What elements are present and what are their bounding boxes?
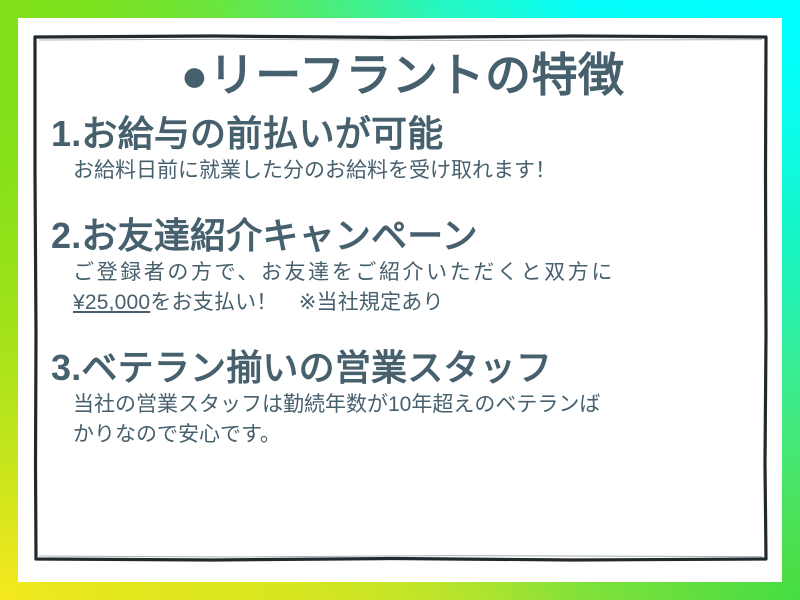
feature-item-1: 1.お給与の前払いが可能 お給料日前に就業した分のお給料を受け取れます！ [51, 114, 754, 186]
feature-2-heading: 2.お友達紹介キャンペーン [51, 216, 754, 256]
referral-amount: ¥25,000 [73, 291, 150, 314]
feature-1-heading: 1.お給与の前払いが可能 [51, 114, 754, 154]
feature-item-2: 2.お友達紹介キャンペーン ご登録者の方で、お友達をご紹介いただくと双方に ¥2… [51, 216, 754, 318]
feature-3-body: 当社の営業スタッフは勤続年数が10年超えのベテランば かりなので安心です。 [51, 390, 754, 450]
feature-1-body: お給料日前に就業した分のお給料を受け取れます！ [51, 156, 754, 186]
feature-3-heading: 3.ベテラン揃いの営業スタッフ [51, 348, 754, 388]
feature-3-body-line-1: 当社の営業スタッフは勤続年数が10年超えのベテランば [73, 390, 754, 420]
poster-content: ●リーフラントの特徴 1.お給与の前払いが可能 お給料日前に就業した分のお給料を… [33, 34, 768, 562]
poster-canvas: ●リーフラントの特徴 1.お給与の前払いが可能 お給料日前に就業した分のお給料を… [0, 0, 800, 600]
page-title: ●リーフラントの特徴 [51, 52, 754, 98]
feature-1-body-line-1: お給料日前に就業した分のお給料を受け取れます！ [73, 156, 754, 186]
feature-2-body: ご登録者の方で、お友達をご紹介いただくと双方に ¥25,000をお支払い！ ※当… [51, 258, 754, 318]
feature-2-body-line-1: ご登録者の方で、お友達をご紹介いただくと双方に [73, 258, 754, 288]
feature-2-body-line-2-rest: をお支払い！ ※当社規定あり [150, 291, 443, 314]
feature-item-3: 3.ベテラン揃いの営業スタッフ 当社の営業スタッフは勤続年数が10年超えのベテラ… [51, 348, 754, 450]
feature-3-body-line-2: かりなので安心です。 [73, 420, 754, 450]
feature-2-body-line-2: ¥25,000をお支払い！ ※当社規定あり [73, 288, 754, 318]
